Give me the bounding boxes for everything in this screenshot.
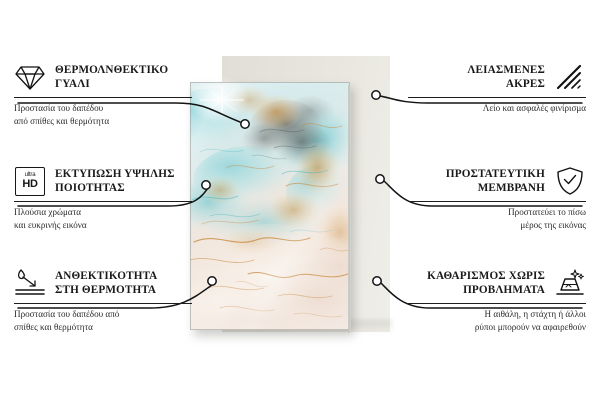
- anchor-protective-film: [376, 175, 384, 183]
- feature-title: ΕΚΤΥΠΩΣΗ ΥΨΗΛΗΣ ΠΟΙΟΤΗΤΑΣ: [55, 167, 192, 195]
- feature-title: ΘΕΡΜΟΛΝΘΕΚΤΙΚΟ ΓΥΑΛΙ: [55, 63, 192, 91]
- feature-header: ΠΡΟΣΤΑΤΕΥΤΙΚΗ ΜΕΜΒΡΑΝΗ: [408, 164, 586, 198]
- feature-heat-resistance[interactable]: ΑΝΘΕΚΤΙΚΟΤΗΤΑ ΣΤΗ ΘΕΡΜΟΤΗΤΑ Προστασία το…: [14, 266, 192, 334]
- feature-divider: [14, 97, 192, 98]
- anchor-thermal-glass: [241, 120, 249, 128]
- feature-header: ΚΑΘΑΡΙΣΜΟΣ ΧΩΡΙΣ ΠΡΟΒΛΗΜΑΤΑ: [408, 266, 586, 300]
- feature-title: ΛΕΙΑΣΜΕΝΕΣ ΑΚΡΕΣ: [408, 63, 545, 91]
- feature-description: Πλούσια χρώματα και ευκρινής εικόνα: [14, 206, 192, 232]
- feature-header: ΛΕΙΑΣΜΕΝΕΣ ΑΚΡΕΣ: [408, 60, 586, 94]
- feature-description: Η αιθάλη, η στάχτη ή άλλοι ρύποι μπορούν…: [408, 308, 586, 334]
- heat-resistance-icon: [14, 267, 46, 299]
- hd-label: HD: [22, 179, 37, 190]
- feature-easy-cleaning[interactable]: ΚΑΘΑΡΙΣΜΟΣ ΧΩΡΙΣ ΠΡΟΒΛΗΜΑΤΑ Η αιθάλη, η …: [408, 266, 586, 334]
- feature-divider: [408, 97, 586, 98]
- feature-description: Προστασία του δαπέδου από σπίθες και θερ…: [14, 308, 192, 334]
- glass-drop-shadow: [194, 88, 354, 336]
- artwork-image: [190, 82, 350, 330]
- feature-title: ΚΑΘΑΡΙΣΜΟΣ ΧΩΡΙΣ ΠΡΟΒΛΗΜΑΤΑ: [408, 269, 545, 297]
- feature-divider: [408, 201, 586, 202]
- feature-thermal-glass[interactable]: ΘΕΡΜΟΛΝΘΕΚΤΙΚΟ ΓΥΑΛΙ Προστασία του δαπέδ…: [14, 60, 192, 128]
- glass-side-thickness: [348, 85, 351, 333]
- feature-header: ΑΝΘΕΚΤΙΚΟΤΗΤΑ ΣΤΗ ΘΕΡΜΟΤΗΤΑ: [14, 266, 192, 300]
- feature-title: ΠΡΟΣΤΑΤΕΥΤΙΚΗ ΜΕΜΒΡΑΝΗ: [408, 167, 545, 195]
- polished-edges-icon: [554, 61, 586, 93]
- feature-title: ΑΝΘΕΚΤΙΚΟΤΗΤΑ ΣΤΗ ΘΕΡΜΟΤΗΤΑ: [55, 269, 192, 297]
- anchor-print-quality: [202, 181, 210, 189]
- feature-header: ultra HD ΕΚΤΥΠΩΣΗ ΥΨΗΛΗΣ ΠΟΙΟΤΗΤΑΣ: [14, 164, 192, 198]
- feature-divider: [14, 303, 192, 304]
- feature-description: Προστασία του δαπέδου από σπίθες και θερ…: [14, 102, 192, 128]
- anchor-heat-resistance: [208, 277, 216, 285]
- glass-print-panel: [190, 82, 350, 330]
- glass-reflection-vertical: [190, 82, 350, 330]
- feature-protective-film[interactable]: ΠΡΟΣΤΑΤΕΥΤΙΚΗ ΜΕΜΒΡΑΝΗ Προστατεύει το πί…: [408, 164, 586, 232]
- feature-header: ΘΕΡΜΟΛΝΘΕΚΤΙΚΟ ΓΥΑΛΙ: [14, 60, 192, 94]
- feature-divider: [408, 303, 586, 304]
- feature-divider: [14, 201, 192, 202]
- sponge-sparkle-icon: [554, 267, 586, 299]
- backdrop-shadow: [222, 320, 392, 334]
- feature-print-quality[interactable]: ultra HD ΕΚΤΥΠΩΣΗ ΥΨΗΛΗΣ ΠΟΙΟΤΗΤΑΣ Πλούσ…: [14, 164, 192, 232]
- anchor-easy-cleaning: [373, 277, 381, 285]
- ultra-hd-badge: ultra HD: [15, 167, 45, 196]
- feature-description: Προστατεύει το πίσω μέρος της εικόνας: [408, 206, 586, 232]
- shield-check-icon: [554, 165, 586, 197]
- backdrop-panel: [222, 56, 390, 332]
- infographic-canvas: ΘΕΡΜΟΛΝΘΕΚΤΙΚΟ ΓΥΑΛΙ Προστασία του δαπέδ…: [0, 0, 600, 400]
- feature-polished-edges[interactable]: ΛΕΙΑΣΜΕΝΕΣ ΑΚΡΕΣ Λείο και ασφαλές φινίρι…: [408, 60, 586, 115]
- diamond-icon: [14, 61, 46, 93]
- ultra-hd-icon: ultra HD: [14, 165, 46, 197]
- glass-edge-outline: [190, 82, 350, 330]
- glass-sparkle-icon: [200, 86, 244, 114]
- anchor-polished-edges: [372, 91, 380, 99]
- glass-reflection-diagonal: [190, 82, 350, 330]
- feature-description: Λείο και ασφαλές φινίρισμα: [408, 102, 586, 115]
